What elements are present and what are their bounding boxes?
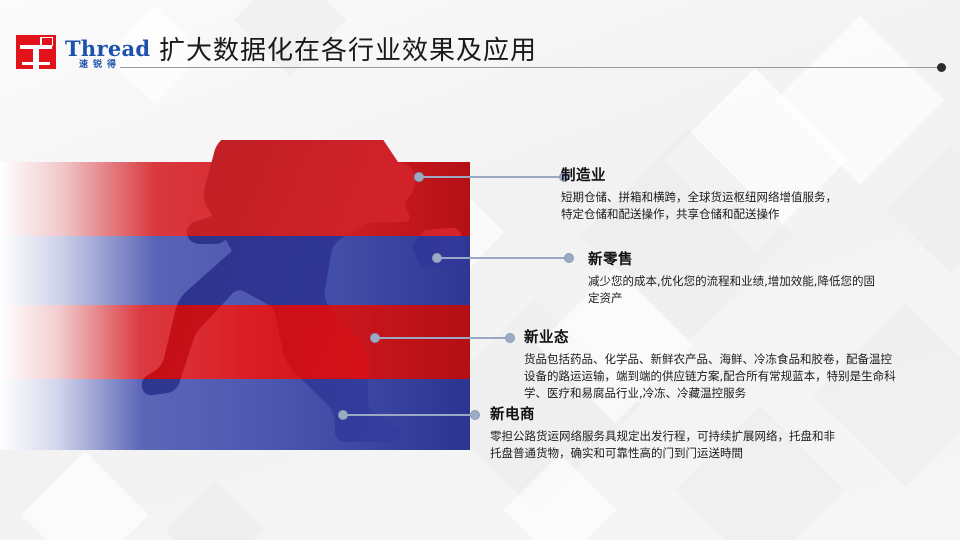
thread-logo-mark-icon xyxy=(16,33,56,70)
connector-dot-end-icon xyxy=(470,410,480,420)
item-new-format: 新业态 货品包括药品、化学品、新鲜农产品、海鲜、冷冻食品和胶卷，配备温控 设备的… xyxy=(524,326,960,402)
item-title: 新业态 xyxy=(524,326,960,347)
connector-dot-end-icon xyxy=(564,253,574,263)
item-title: 新零售 xyxy=(588,248,960,269)
item-title: 制造业 xyxy=(561,164,956,185)
item-body: 短期仓储、拼箱和横跨，全球货运枢纽网络增值服务， 特定仓储和配送操作，共享仓储和… xyxy=(561,189,956,223)
connector-new-format xyxy=(370,333,515,343)
connector-dot-end-icon xyxy=(505,333,515,343)
brand-logo-text: Thread 速锐得 xyxy=(65,38,150,70)
brand-name-en: Thread xyxy=(65,38,150,59)
connector-manufacturing xyxy=(414,172,569,182)
header-divider-end-dot-icon xyxy=(937,63,946,72)
item-manufacturing: 制造业 短期仓储、拼箱和横跨，全球货运枢纽网络增值服务， 特定仓储和配送操作，共… xyxy=(561,164,956,223)
slide-header: Thread 速锐得 扩大数据化在各行业效果及应用 xyxy=(0,0,960,92)
page-title: 扩大数据化在各行业效果及应用 xyxy=(159,30,537,67)
item-body: 货品包括药品、化学品、新鲜农产品、海鲜、冷冻食品和胶卷，配备温控 设备的路运运输… xyxy=(524,351,960,402)
item-new-ecommerce: 新电商 零担公路货运网络服务具规定出发行程，可持续扩展网络，托盘和非 托盘普通货… xyxy=(490,403,950,462)
item-body: 减少您的成本,优化您的流程和业绩,增加效能,降低您的固 定资产 xyxy=(588,273,960,307)
brand-logo[interactable]: Thread 速锐得 xyxy=(16,33,150,70)
item-new-retail: 新零售 减少您的成本,优化您的流程和业绩,增加效能,降低您的固 定资产 xyxy=(588,248,960,307)
brand-name-cn: 速锐得 xyxy=(79,61,150,70)
item-title: 新电商 xyxy=(490,403,950,424)
connector-new-retail xyxy=(432,253,574,263)
connector-new-ecommerce xyxy=(338,410,480,420)
item-body: 零担公路货运网络服务具规定出发行程，可持续扩展网络，托盘和非 托盘普通货物，确实… xyxy=(490,428,950,462)
header-divider xyxy=(120,67,937,68)
slide-canvas: Thread 速锐得 扩大数据化在各行业效果及应用 xyxy=(0,0,960,540)
